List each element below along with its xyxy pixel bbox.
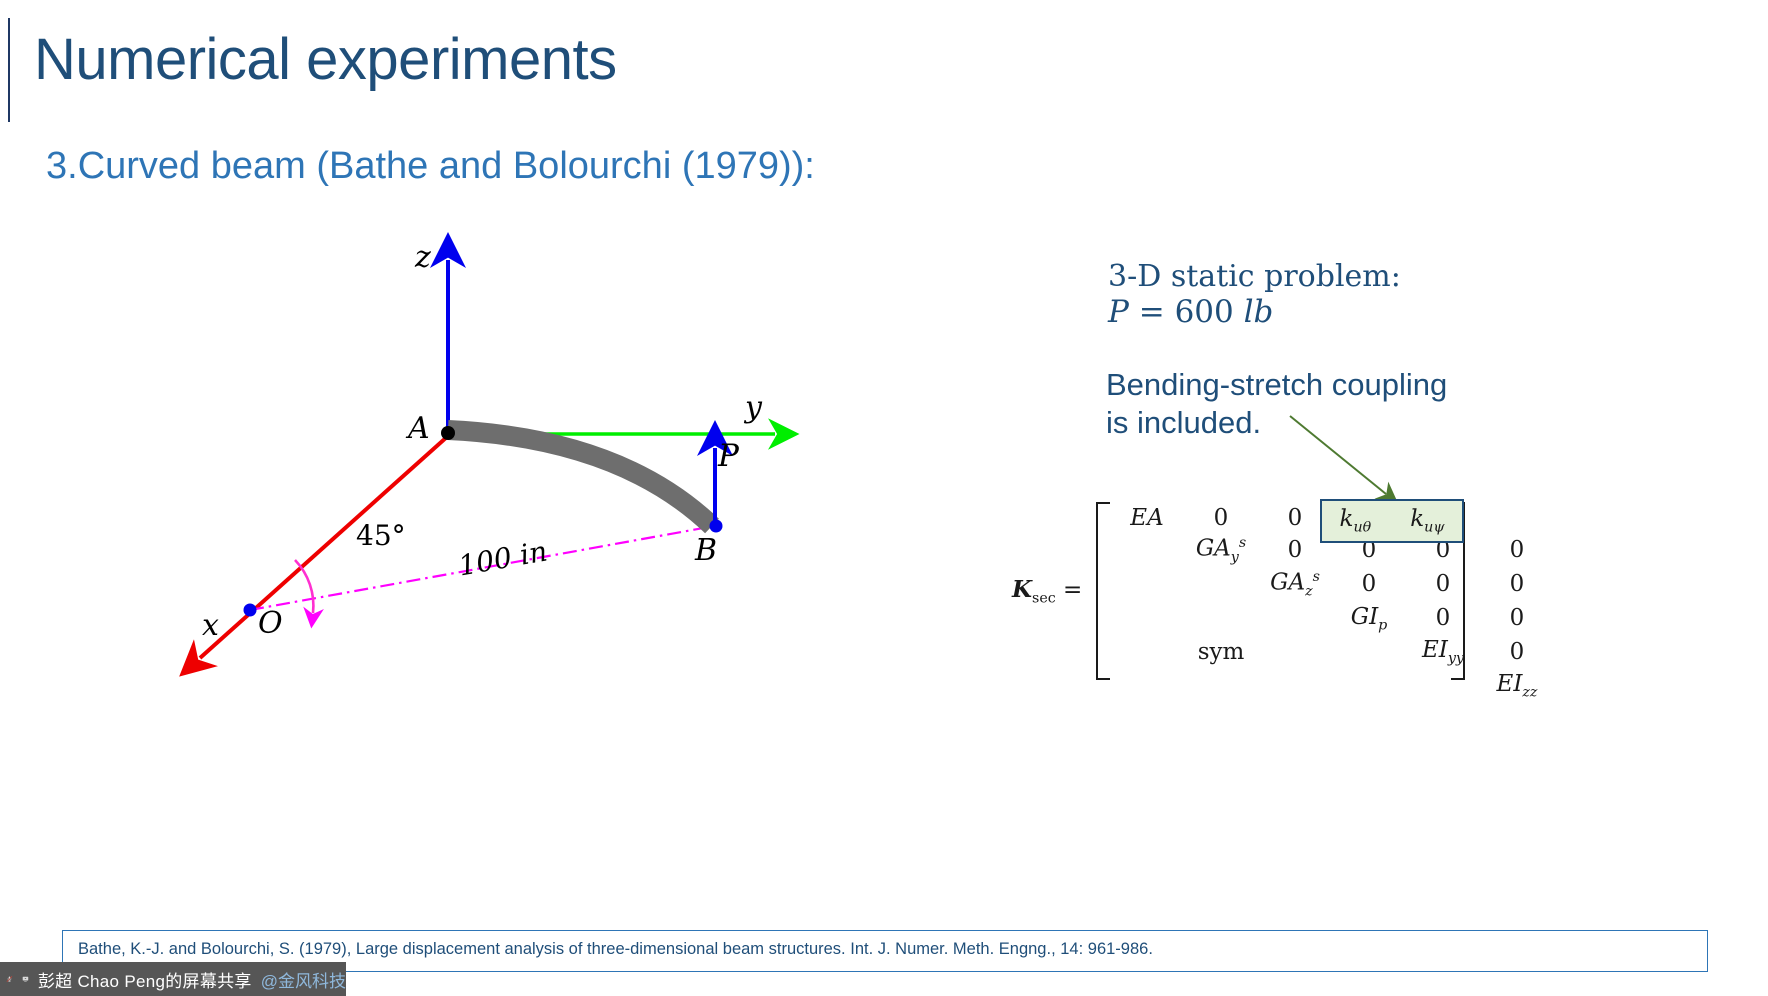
angle-45-label: 45° xyxy=(356,519,406,552)
cell-sym: sym xyxy=(1184,635,1258,669)
matrix-row: GAzs 0 0 0 xyxy=(1110,567,1554,601)
citation-text: Bathe, K.-J. and Bolourchi, S. (1979), L… xyxy=(78,940,1153,959)
matrix-symbol-K: K xyxy=(1012,576,1032,603)
slide-subtitle: 3.Curved beam (Bathe and Bolourchi (1979… xyxy=(46,146,815,188)
matrix-bracket-left xyxy=(1096,502,1110,680)
matrix-lhs: Ksec = xyxy=(1012,576,1082,607)
problem-type-note: 3-D static problem: xyxy=(1108,258,1401,296)
load-P-label: P xyxy=(718,438,739,474)
matrix-row: sym EIyy 0 xyxy=(1110,635,1554,669)
cell-0: 0 xyxy=(1480,533,1554,567)
cell-empty xyxy=(1332,669,1406,703)
curved-beam-arc xyxy=(448,430,712,526)
cell-0: 0 xyxy=(1480,567,1554,601)
cell-empty xyxy=(1406,669,1480,703)
load-symbol: P xyxy=(1108,294,1129,330)
microphone-muted-icon[interactable] xyxy=(6,967,13,991)
cell-empty xyxy=(1110,567,1184,601)
curved-beam-figure: z y x A B O P 45° 100 in xyxy=(150,230,870,700)
point-O-label: O xyxy=(258,606,283,641)
x-axis-label: x xyxy=(202,608,219,643)
screen-share-bar[interactable]: 彭超 Chao Peng的屏幕共享 @金风科技 xyxy=(0,962,346,996)
cell-empty xyxy=(1258,602,1332,636)
coupling-note-line1: Bending-stretch coupling xyxy=(1106,366,1506,404)
load-unit: lb xyxy=(1244,294,1274,330)
matrix-row: GIp 0 0 xyxy=(1110,602,1554,636)
cell-0: 0 xyxy=(1406,602,1480,636)
cell-empty xyxy=(1258,669,1332,703)
cell-0: 0 xyxy=(1480,602,1554,636)
cell-GIp: GIp xyxy=(1332,602,1406,636)
load-magnitude: 600 xyxy=(1175,294,1234,330)
z-axis-label: z xyxy=(415,240,431,275)
node-A-dot xyxy=(441,426,455,440)
load-equals: = xyxy=(1139,294,1165,330)
matrix-row: EIzz xyxy=(1110,669,1554,703)
cell-0: 0 xyxy=(1406,567,1480,601)
cell-GAys: GAys xyxy=(1184,533,1258,567)
cell-empty xyxy=(1110,602,1184,636)
node-O-dot xyxy=(244,604,257,617)
cell-empty xyxy=(1184,669,1258,703)
cell-EIyy: EIyy xyxy=(1406,635,1480,669)
cell-empty xyxy=(1110,669,1184,703)
point-A-label: A xyxy=(408,411,430,446)
presenter-handle: @金风科技 xyxy=(261,967,346,992)
slide-canvas: Numerical experiments 3.Curved beam (Bat… xyxy=(0,0,1768,996)
cell-empty xyxy=(1184,602,1258,636)
cell-EA: EA xyxy=(1110,503,1184,533)
node-B-dot xyxy=(710,520,723,533)
cell-empty xyxy=(1332,635,1406,669)
cell-0: 0 xyxy=(1480,635,1554,669)
screen-share-icon[interactable] xyxy=(22,967,29,991)
cell-empty xyxy=(1184,567,1258,601)
cell-0: 0 xyxy=(1184,503,1258,533)
term-k-utheta: kuθ xyxy=(1340,506,1372,536)
term-k-upsi: kuψ xyxy=(1410,506,1444,536)
matrix-equals: = xyxy=(1063,577,1082,603)
cell-empty xyxy=(1110,635,1184,669)
coupling-highlight-terms: kuθ kuψ xyxy=(1320,499,1464,543)
cell-GAzs: GAzs xyxy=(1258,567,1332,601)
callout-arrow xyxy=(1290,416,1386,494)
cell-0: 0 xyxy=(1332,567,1406,601)
cell-empty xyxy=(1258,635,1332,669)
title-accent-rule xyxy=(8,18,10,122)
point-B-label: B xyxy=(695,533,717,568)
matrix-symbol-subscript: sec xyxy=(1032,591,1056,607)
cell-k-upsi xyxy=(1480,503,1554,533)
presenter-name: 彭超 Chao Peng的屏幕共享 xyxy=(38,967,252,992)
page-title: Numerical experiments xyxy=(34,30,617,91)
x-axis xyxy=(200,436,448,658)
y-axis-label: y xyxy=(745,390,762,425)
load-value-note: P = 600 lb xyxy=(1108,294,1273,330)
cell-EIzz: EIzz xyxy=(1480,669,1554,703)
cell-empty xyxy=(1110,533,1184,567)
